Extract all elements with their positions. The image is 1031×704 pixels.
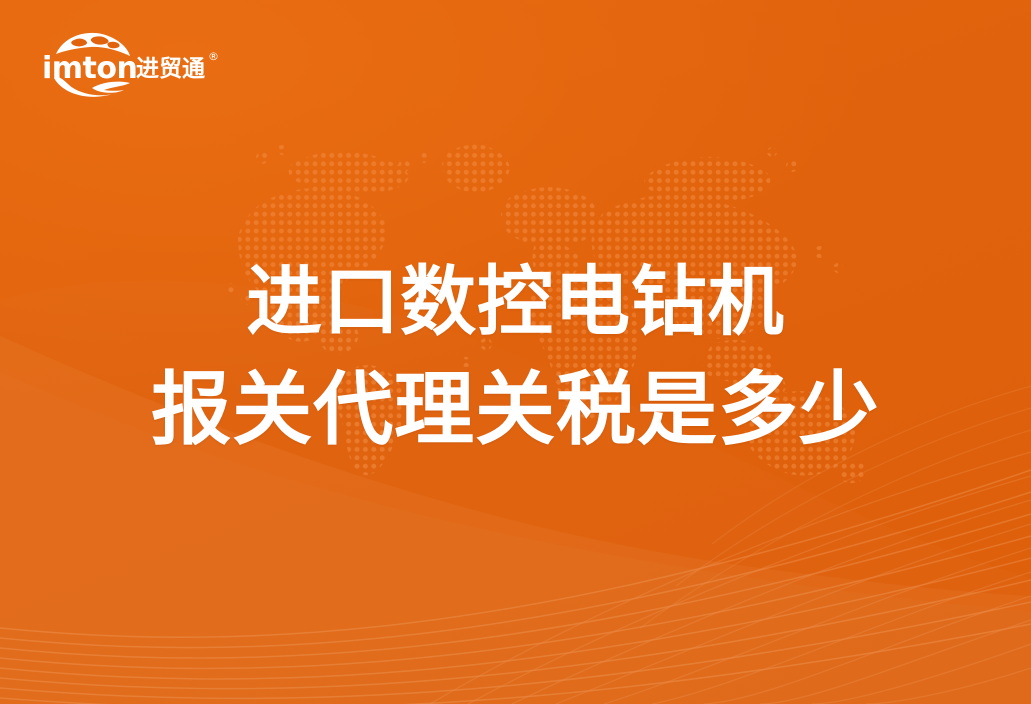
headline-block: 进口数控电钻机 报关代理关税是多少	[0, 258, 1031, 457]
headline-line-1: 进口数控电钻机	[0, 258, 1031, 346]
poster-canvas: imton 进贸通 ® 进口数控电钻机 报关代理关税是多少	[0, 0, 1031, 704]
registered-trademark-icon: ®	[208, 50, 219, 63]
logo-chinese-text: 进贸通	[136, 56, 205, 82]
logo-latin-text: imton	[42, 51, 137, 86]
brand-logo[interactable]: imton 进贸通 ®	[40, 28, 230, 100]
headline-line-2: 报关代理关税是多少	[0, 364, 1031, 457]
